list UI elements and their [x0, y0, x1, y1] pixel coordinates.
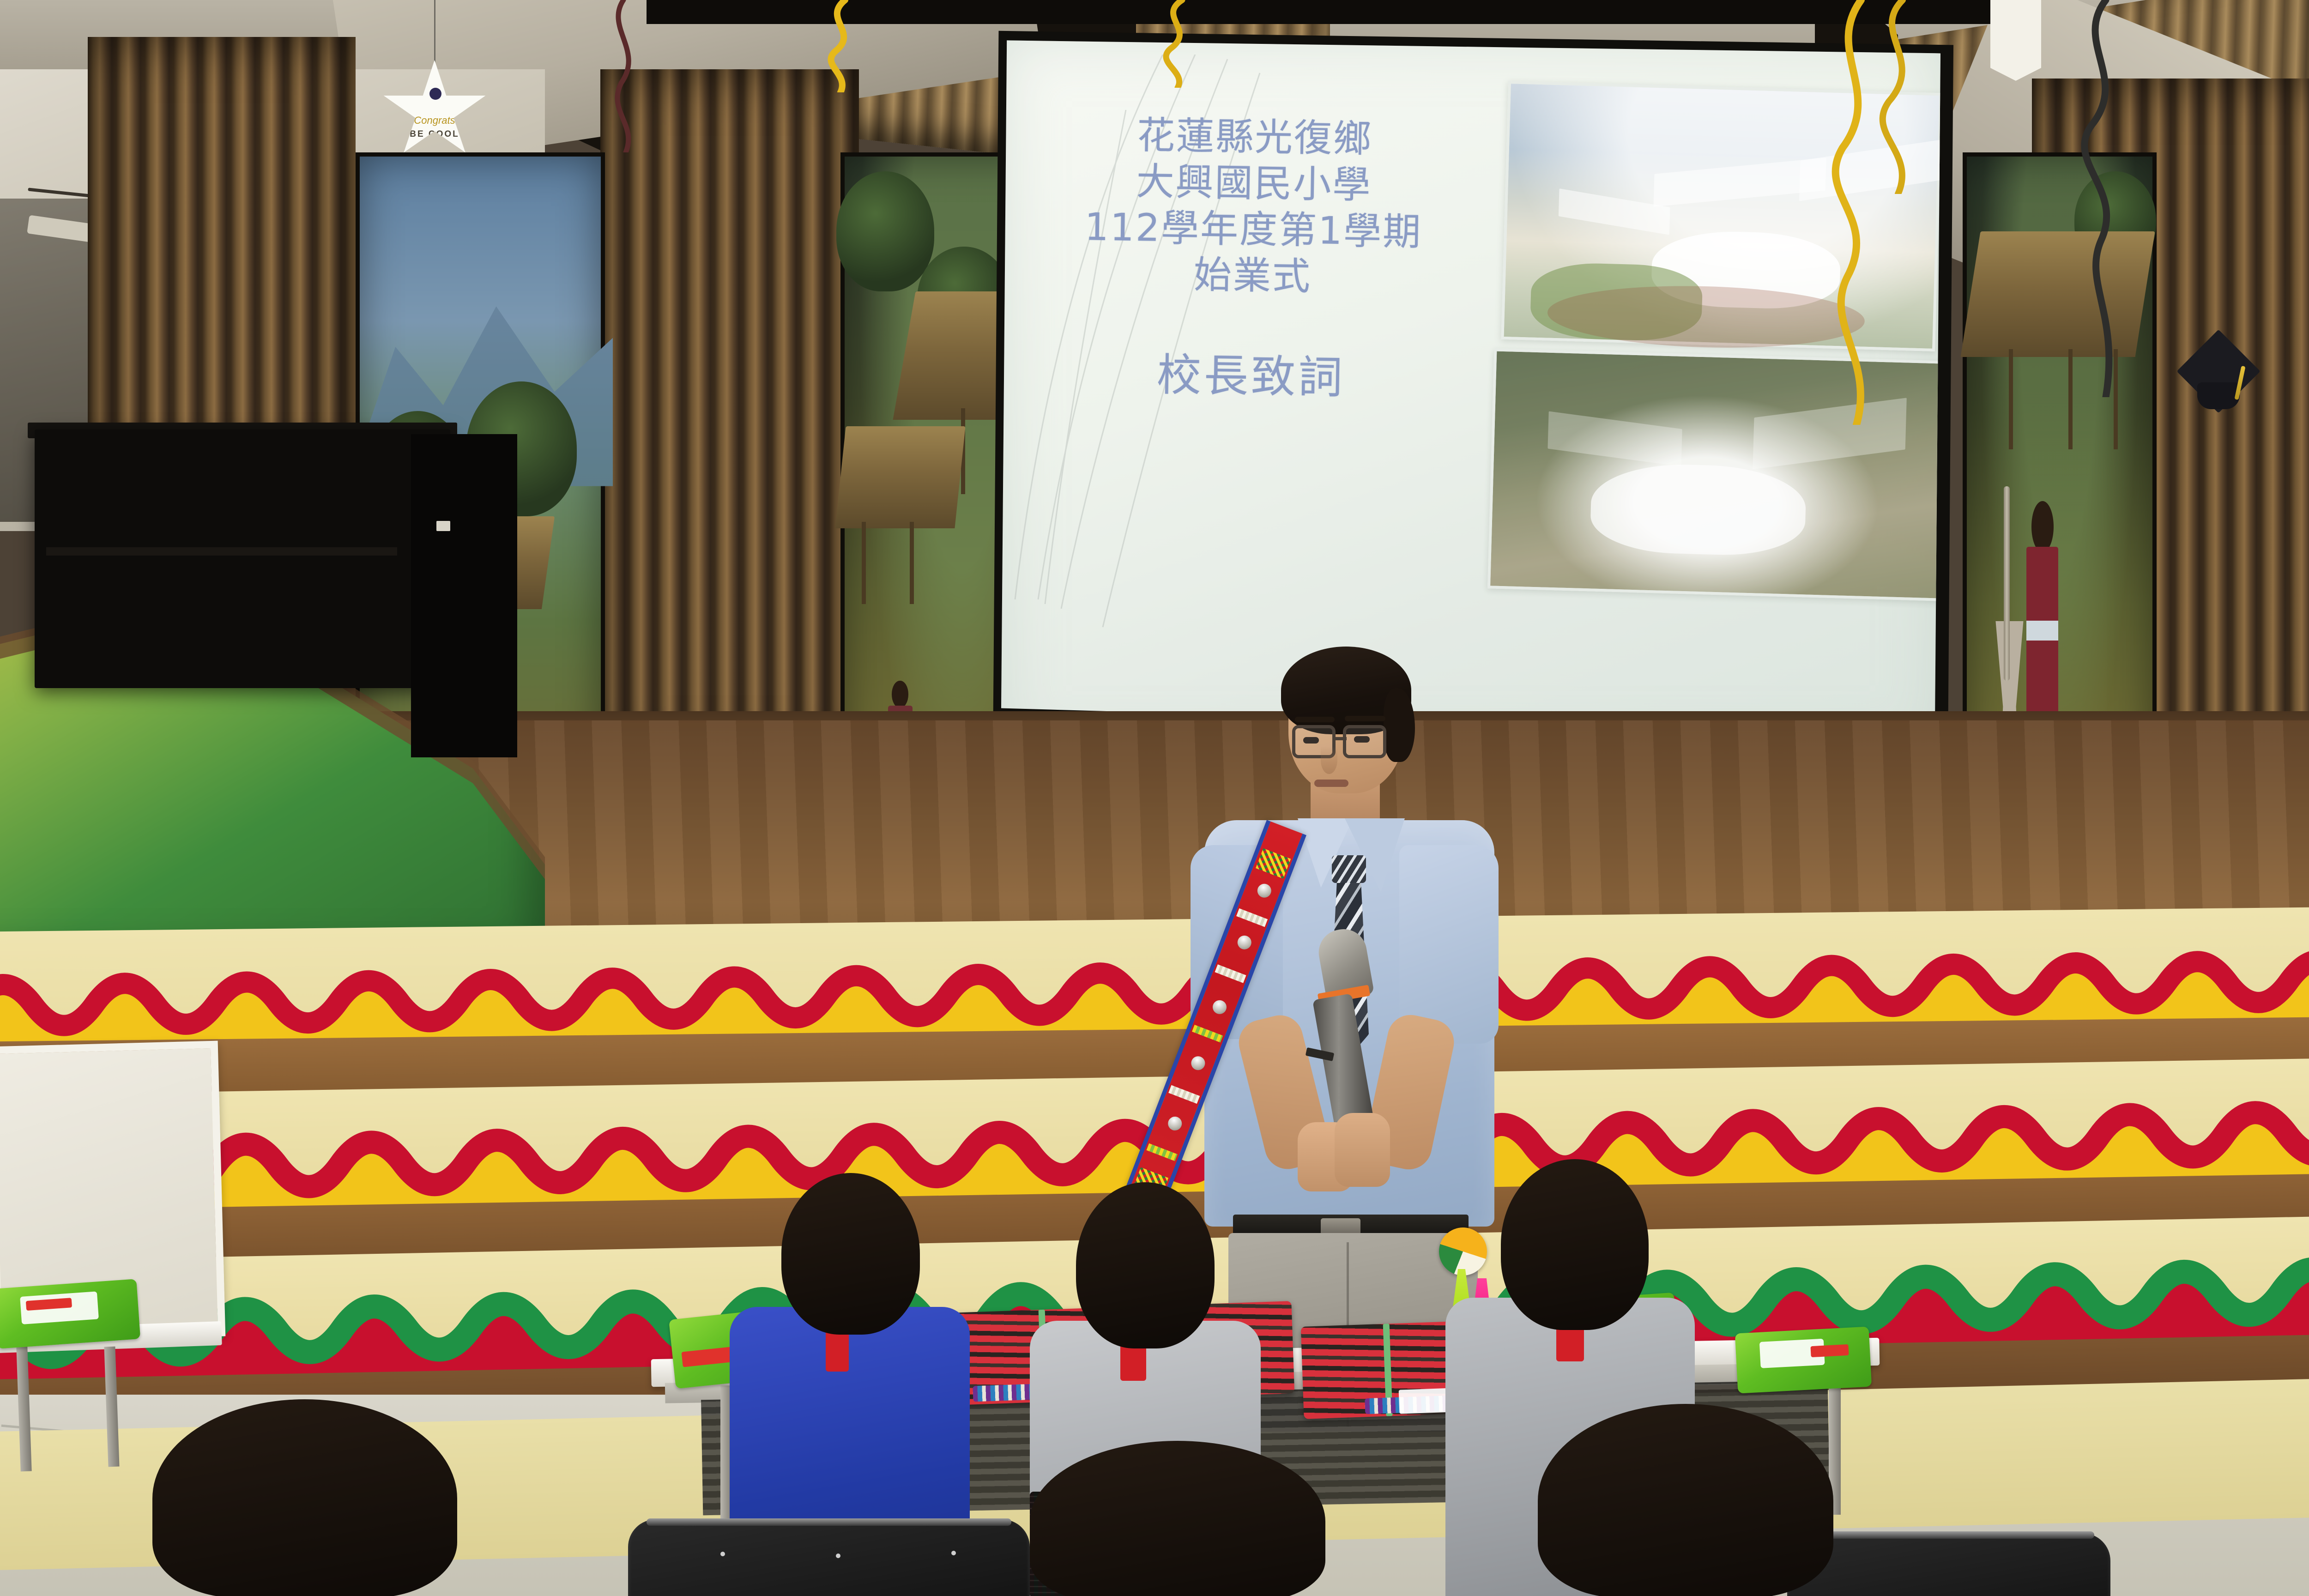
child-front-right: [1538, 1404, 1833, 1596]
graduation-cap-base: [2197, 382, 2240, 409]
ribbon-swirl-right: [2050, 0, 2143, 397]
child-grey-shirt-left-hair: [1076, 1182, 1215, 1348]
piano-badge: [436, 521, 450, 531]
slide-line-1: 花蓮縣光復鄉: [1053, 111, 1456, 164]
slide-line-2: 大興國民小學: [1053, 157, 1455, 210]
star-hanging-string: [434, 0, 435, 69]
chair-left-dot-3: [951, 1551, 956, 1555]
speaker-brow-right: [1345, 716, 1385, 721]
piano-side-panel: [411, 434, 517, 757]
speaker-mouth: [1314, 780, 1348, 787]
speaker-brow-left: [1295, 717, 1335, 722]
slide-text-block: 花蓮縣光復鄉 大興國民小學 112學年度第1學期 始業式 校長致詞: [1050, 111, 1456, 406]
streamer-swirl-left: [813, 0, 868, 92]
slide-subtitle: 校長致詞: [1050, 347, 1452, 406]
piano-lid: [46, 547, 397, 556]
ribbon-swirl-left: [600, 0, 656, 152]
upright-piano: [35, 429, 450, 688]
speaker-sleeve-right: [1399, 845, 1499, 1044]
glasses-bridge: [1335, 737, 1347, 740]
chair-right-rim: [1803, 1531, 2094, 1539]
child-blue-shirt-hair: [781, 1173, 920, 1335]
child-grey-shirt-right-hair: [1501, 1159, 1649, 1330]
chair-right[interactable]: [1787, 1533, 2110, 1596]
speaker-hand-right: [1335, 1113, 1390, 1187]
chair-left[interactable]: [628, 1519, 1030, 1596]
child-front-left: [152, 1399, 457, 1596]
snack-bag-green-1: [0, 1279, 140, 1348]
streamer-swirl-right-2: [1861, 0, 1935, 194]
star-dot: [429, 88, 441, 100]
child-front-right-hair: [1538, 1404, 1833, 1596]
speaker-tie-knot: [1332, 855, 1366, 883]
snack-bag-green-4: [1735, 1327, 1872, 1394]
child-front-left-hair: [152, 1399, 457, 1596]
chair-left-rim: [647, 1518, 1011, 1526]
slide-line-3: 112學年度第1學期: [1052, 204, 1454, 256]
slide-line-4: 始業式: [1052, 250, 1454, 302]
graduation-cap-decoration: [2175, 342, 2267, 439]
bamboo-pole-wall-center: [600, 69, 859, 762]
paper-tag-decoration: [1990, 0, 2041, 81]
speaker-nose: [1321, 746, 1337, 774]
child-front-center-hair: [1030, 1441, 1325, 1596]
assembly-hall-photo: 花蓮縣光復鄉 大興國民小學 112學年度第1學期 始業式 校長致詞 C: [0, 0, 2309, 1596]
streamer-swirl-center: [1145, 0, 1205, 88]
chair-left-dot-2: [836, 1554, 840, 1558]
chair-left-dot-1: [720, 1552, 725, 1556]
glasses-lens-right: [1343, 725, 1386, 758]
child-front-center: [1030, 1441, 1325, 1596]
